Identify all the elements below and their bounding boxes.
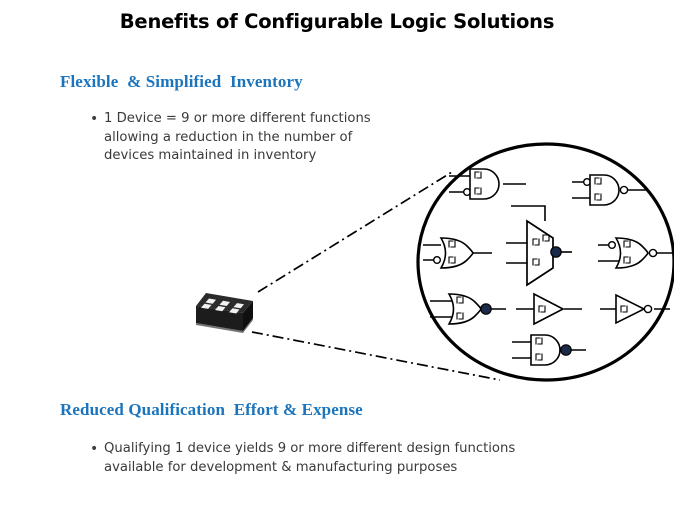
gate-nor-filled-output [430,294,506,324]
callout-line-upper [258,172,452,292]
bullet-item-qualification: • Qualifying 1 device yields 9 or more d… [90,440,610,477]
page-title: Benefits of Configurable Logic Solutions [0,10,674,33]
gate-nand-inverted-input [572,175,648,205]
bullet-text-qualification: Qualifying 1 device yields 9 or more dif… [104,440,515,477]
gate-inverter [600,295,670,323]
magnifier-circle [418,144,674,380]
bullet-marker-icon: • [90,110,104,129]
gate-nor-inverted-input [598,238,672,268]
slide-canvas: Benefits of Configurable Logic Solutions… [0,0,674,506]
callout-lines [252,172,500,380]
bullet-item-inventory: • 1 Device = 9 or more different functio… [90,110,470,166]
section-heading-qualification: Reduced Qualification Effort & Expense [60,400,363,420]
gate-buffer [516,294,582,324]
bullet-marker-icon: • [90,440,104,459]
gate-or-inverted-input [423,238,492,268]
section-heading-inventory: Flexible & Simplified Inventory [60,72,303,92]
gate-and-inverted-input [449,169,526,199]
callout-line-lower [252,332,500,380]
gate-multiplexer [506,206,572,285]
gate-nand-filled-output [512,335,586,365]
bullet-text-inventory: 1 Device = 9 or more different functions… [104,110,371,166]
ic-package-icon [196,293,253,333]
